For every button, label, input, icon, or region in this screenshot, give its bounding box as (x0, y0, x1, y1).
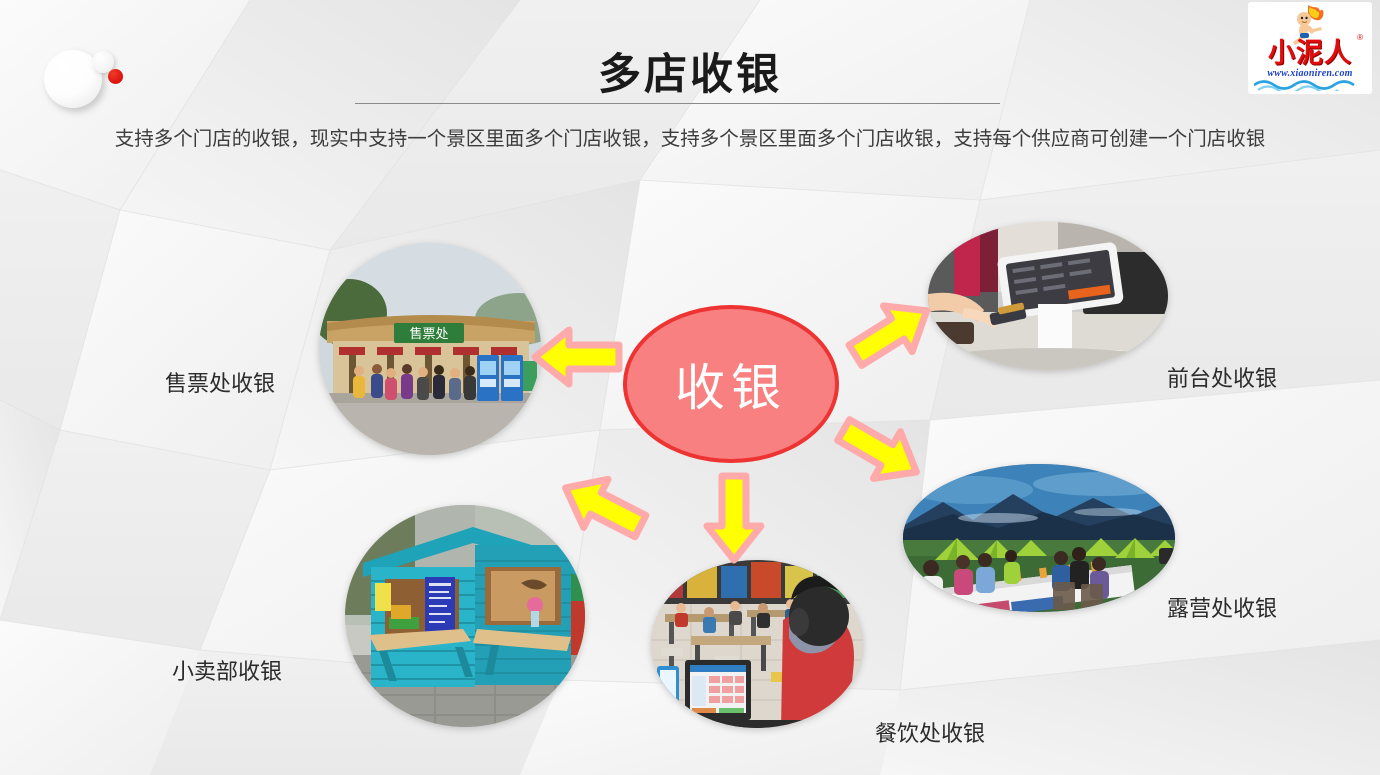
campsite-illustration (903, 464, 1175, 612)
hub-node-cashier: 收银 (623, 305, 839, 463)
photo-dining-cashier (651, 560, 863, 728)
arrow-down-right-icon (832, 414, 928, 488)
arrow-down-left-icon (555, 470, 651, 544)
node-label-ticket: 售票处收银 (165, 366, 275, 398)
title-divider (355, 103, 1000, 104)
page-title: 多店收银 (0, 40, 1380, 102)
node-label-shop: 小卖部收银 (172, 654, 282, 686)
arrow-left-icon (529, 320, 625, 394)
ticket-office-illustration: 售票处 (319, 243, 541, 455)
node-label-front-desk: 前台处收银 (1167, 361, 1277, 393)
slide-canvas: ® 小泥人 www.xiaoniren.com 多店收银 支持多个门店的收银，现… (0, 0, 1380, 775)
photo-shop-kiosk (345, 505, 585, 727)
svg-text:售票处: 售票处 (409, 326, 448, 342)
node-label-dining: 餐饮处收银 (875, 716, 985, 748)
arrow-up-right-icon (843, 296, 939, 370)
photo-campsite (903, 464, 1175, 612)
photo-front-desk (928, 222, 1168, 370)
node-label-campsite: 露营处收银 (1167, 591, 1277, 623)
shop-kiosk-illustration (345, 505, 585, 727)
arrow-down-icon (697, 470, 771, 566)
front-desk-illustration (928, 222, 1168, 370)
photo-ticket-office: 售票处 (319, 243, 541, 455)
page-subtitle: 支持多个门店的收银，现实中支持一个景区里面多个门店收银，支持多个景区里面多个门店… (110, 124, 1270, 154)
hub-label: 收银 (675, 348, 787, 420)
dining-cashier-illustration (651, 560, 863, 728)
